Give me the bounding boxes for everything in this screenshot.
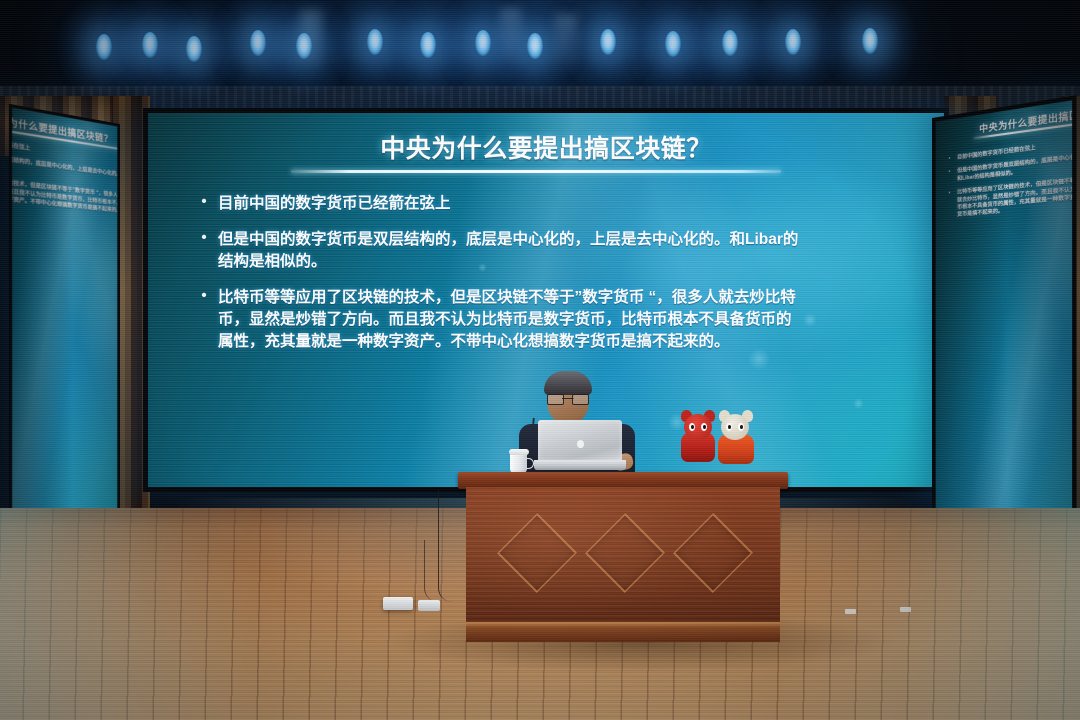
plush-eye-left: [726, 423, 732, 431]
hanging-light-fixture: [300, 10, 322, 70]
bokeh-dot: [853, 398, 864, 409]
slide-bullet-list: • 目前中国的数字货币已经箭在弦上 • 但是中国的数字货币是双层结构的，底层是中…: [190, 193, 920, 367]
mug-body: [510, 453, 527, 473]
stage-light: [722, 30, 738, 56]
floor-light-wash-left: [0, 508, 260, 720]
laptop: [534, 420, 626, 470]
floor-marker-tape: [845, 609, 856, 614]
stage-photo: 中央为什么要提出搞区块链？ • 目前中国的数字货币已经箭在弦上 • 但是中国的数…: [0, 0, 1080, 720]
plush-eye-right: [738, 423, 744, 431]
podium-base-trim: [466, 622, 780, 642]
laptop-deck: [534, 460, 626, 470]
right-panel-slide: 中央为什么要提出搞区块链？ • 目前中国的数字货币已经箭在弦上 • 但是中国的数…: [936, 100, 1072, 533]
plush-head: [684, 414, 712, 440]
stage-light: [600, 29, 616, 55]
plush-eye-right: [701, 423, 707, 431]
slide-bullet-item: • 但是中国的数字货币是双层结构的，底层是中心化的，上层是去中心化的。和Liba…: [190, 229, 920, 273]
slide-bullet-item: • 比特币等等应用了区块链的技术，但是区块链不等于”数字货币 “，很多人就去炒比…: [190, 287, 920, 353]
power-plug: [418, 600, 440, 611]
lens-right: [572, 394, 589, 405]
bullet-marker-icon: •: [949, 190, 957, 197]
orange-mascot-plush: [718, 414, 754, 464]
speaker-podium: [462, 472, 784, 642]
slide-title-underline: [291, 170, 781, 173]
red-mascot-plush: [681, 414, 715, 462]
right-panel-screen: 中央为什么要提出搞区块链？ • 目前中国的数字货币已经箭在弦上 • 但是中国的数…: [936, 100, 1072, 533]
plush-head: [721, 414, 749, 440]
slide-bullet-text: 比特币等等应用了区块链的技术，但是区块链不等于”数字货币 “，很多人就去炒比特币…: [218, 287, 803, 353]
stage-light: [527, 33, 543, 59]
slide-bullet-text: 但是中国的数字货币是双层结构的，底层是中心化的，上层是去中心化的。和Libar的…: [218, 229, 803, 273]
floor-marker-tape: [900, 607, 911, 612]
stage-light: [785, 29, 801, 55]
podium-diamond-ornament: [585, 513, 665, 593]
bullet-marker-icon: •: [190, 229, 218, 246]
mug-lid: [509, 449, 529, 455]
apple-logo-icon: [577, 440, 584, 448]
stage-light: [862, 28, 878, 54]
bullet-marker-icon: •: [190, 193, 218, 210]
lens-left: [547, 394, 564, 405]
bullet-marker-icon: •: [949, 155, 957, 162]
power-strip: [383, 597, 413, 610]
hanging-light-fixture: [555, 14, 577, 74]
right-side-led-panel[interactable]: 中央为什么要提出搞区块链？ • 目前中国的数字货币已经箭在弦上 • 但是中国的数…: [932, 95, 1077, 539]
podium-front-panel: [466, 487, 780, 627]
laptop-lid: [538, 420, 622, 461]
eyeglasses-icon: [547, 394, 589, 403]
left-panel-screen: 中央为什么要提出搞区块链？ • 目前中国的数字货币已经箭在弦上 • 但是中国的数…: [12, 108, 117, 529]
plush-eye-left: [689, 423, 695, 431]
podium-diamond-ornament: [673, 513, 753, 593]
floor-cable: [438, 490, 457, 602]
travel-mug: [509, 449, 529, 473]
bullet-marker-icon: •: [190, 287, 218, 304]
speaker-hair: [544, 371, 592, 395]
left-side-led-panel[interactable]: 中央为什么要提出搞区块链？ • 目前中国的数字货币已经箭在弦上 • 但是中国的数…: [9, 104, 120, 532]
bullet-marker-icon: •: [949, 168, 957, 175]
slide-title: 中央为什么要提出搞区块链？: [148, 129, 944, 165]
podium-diamond-ornament: [497, 513, 577, 593]
floor-cable: [424, 540, 439, 602]
left-panel-slide: 中央为什么要提出搞区块链？ • 目前中国的数字货币已经箭在弦上 • 但是中国的数…: [12, 108, 117, 529]
stage-light: [186, 36, 202, 62]
slide-bullet-item: • 目前中国的数字货币已经箭在弦上: [190, 193, 920, 215]
hanging-light-fixture: [500, 8, 522, 68]
slide-bullet-text: 目前中国的数字货币已经箭在弦上: [218, 193, 451, 215]
